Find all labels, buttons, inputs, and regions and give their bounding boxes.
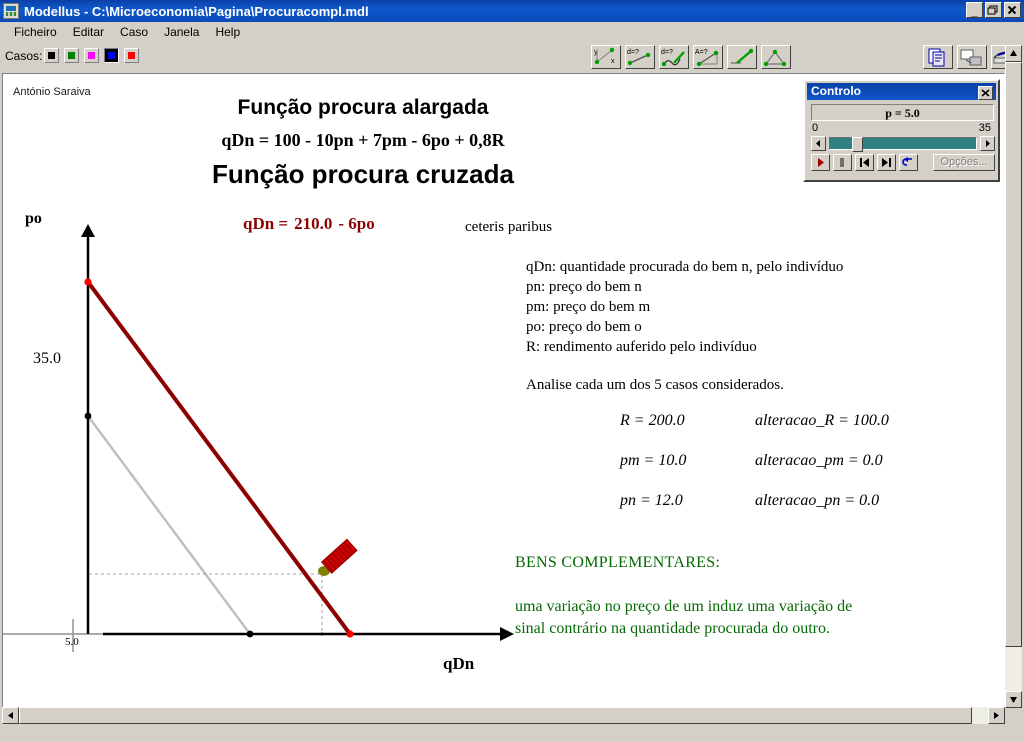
legend-line-qdn: qDn: quantidade procurada do bem n, pelo… <box>526 257 843 277</box>
caso-swatch-magenta <box>88 52 95 59</box>
y-tick-5: 5.0 <box>65 636 79 648</box>
scroll-left-button[interactable] <box>2 707 19 724</box>
tool-angle[interactable]: A=? <box>693 45 723 69</box>
status-bar <box>0 724 1024 742</box>
minimize-icon: _ <box>967 5 982 19</box>
casos-label: Casos: <box>5 49 42 63</box>
parameter-row-pm: pm = 10.0alteracao_pm = 0.0 <box>620 452 889 492</box>
play-button[interactable] <box>811 154 830 171</box>
param-r-delta[interactable]: alteracao_R = 100.0 <box>755 412 889 430</box>
svg-text:d=?: d=? <box>627 49 639 56</box>
play-icon <box>812 155 829 170</box>
triangle-down-icon <box>1006 692 1021 707</box>
chevron-right-icon <box>981 137 994 150</box>
horizontal-scroll-thumb[interactable] <box>19 707 972 724</box>
scroll-right-button[interactable] <box>988 707 1005 724</box>
horizontal-scrollbar[interactable] <box>2 707 1005 724</box>
svg-text:x: x <box>611 58 615 65</box>
tool-axes[interactable]: y x <box>591 45 621 69</box>
restore-button[interactable] <box>985 2 1002 18</box>
chart-area[interactable]: po qDn 35.0 5.0 180.0 210.0 <box>3 74 563 707</box>
chart-svg <box>3 74 563 707</box>
chevron-left-icon <box>812 137 825 150</box>
close-icon <box>1005 3 1020 17</box>
controlo-slider-track[interactable] <box>829 137 977 150</box>
triangle-up-icon <box>1006 46 1021 61</box>
bens-line-2: sinal contrário na quantidade procurada … <box>515 618 852 640</box>
controlo-readout: p = 5.0 <box>811 104 994 121</box>
window-controls: _ <box>966 2 1021 18</box>
reset-icon <box>900 155 917 170</box>
last-frame-icon <box>878 155 895 170</box>
vertical-scroll-thumb[interactable] <box>1005 62 1022 647</box>
caso-button-1[interactable] <box>44 48 59 63</box>
controlo-close-button[interactable] <box>978 86 993 100</box>
controlo-title-label: Controlo <box>811 84 861 98</box>
y-axis-label: po <box>25 210 42 228</box>
path-length-tool-icon: d=? <box>660 46 688 68</box>
x-axis-label: qDn <box>443 654 474 674</box>
caso-swatch-blue <box>108 52 115 59</box>
caso-swatch-green <box>68 52 75 59</box>
y-tick-35: 35.0 <box>33 350 61 368</box>
param-pn-delta[interactable]: alteracao_pn = 0.0 <box>755 492 879 510</box>
reset-button[interactable] <box>899 154 918 171</box>
pencil-cursor[interactable] <box>318 539 357 576</box>
menu-bar: Ficheiro Editar Caso Janela Help <box>0 22 1024 41</box>
slider-step-right-button[interactable] <box>980 136 995 151</box>
caso-button-5[interactable] <box>124 48 139 63</box>
triangle-tool-icon <box>762 46 790 68</box>
controlo-range-min: 0 <box>812 122 818 134</box>
caso-swatch-black <box>48 52 55 59</box>
title-bar: Modellus - C:\Microeconomia\Pagina\Procu… <box>0 0 1024 22</box>
tool-export[interactable] <box>957 45 987 69</box>
legend-line-r: R: rendimento auferido pelo indivíduo <box>526 337 843 357</box>
tool-path-length[interactable]: d=? <box>659 45 689 69</box>
analise-note: Analise cada um dos 5 casos considerados… <box>526 377 784 394</box>
caso-button-4[interactable] <box>104 48 119 63</box>
controlo-range-max: 35 <box>979 122 991 134</box>
copy-icon <box>924 46 952 68</box>
slider-step-left-button[interactable] <box>811 136 826 151</box>
legend-line-pm: pm: preço do bem m <box>526 297 843 317</box>
menu-janela[interactable]: Janela <box>156 24 207 40</box>
menu-caso[interactable]: Caso <box>112 24 156 40</box>
series-procura-anterior <box>88 416 250 634</box>
axes-tool-icon: y x <box>592 46 620 68</box>
param-pm-delta[interactable]: alteracao_pm = 0.0 <box>755 452 883 470</box>
controlo-slider-thumb[interactable] <box>852 137 863 152</box>
pause-icon <box>834 155 851 170</box>
parameter-table: R = 200.0alteracao_R = 100.0 pm = 10.0al… <box>620 412 889 532</box>
legend-line-po: po: preço do bem o <box>526 317 843 337</box>
window-title: Modellus - C:\Microeconomia\Pagina\Procu… <box>24 4 369 19</box>
tool-copy[interactable] <box>923 45 953 69</box>
triangle-right-icon <box>989 708 1004 723</box>
angle-tool-icon: A=? <box>694 46 722 68</box>
scroll-down-button[interactable] <box>1005 691 1022 708</box>
tool-triangle[interactable] <box>761 45 791 69</box>
minimize-button[interactable]: _ <box>966 2 983 18</box>
first-frame-button[interactable] <box>855 154 874 171</box>
tool-vector[interactable] <box>727 45 757 69</box>
app-icon <box>3 3 19 19</box>
export-icon <box>958 46 986 68</box>
close-icon <box>979 87 992 99</box>
controlo-slider-row <box>811 136 995 151</box>
bens-line-1: uma variação no preço de um induz uma va… <box>515 596 852 618</box>
variable-legend: qDn: quantidade procurada do bem n, pelo… <box>526 257 843 357</box>
controlo-opcoes-button[interactable]: Opções... <box>933 154 995 171</box>
param-pn-value[interactable]: pn = 12.0 <box>620 492 755 510</box>
controlo-title-bar: Controlo <box>807 83 996 100</box>
vertical-scrollbar[interactable] <box>1005 45 1022 708</box>
series-procura-actual <box>88 282 350 634</box>
distance-tool-icon: d=? <box>626 46 654 68</box>
parameter-row-r: R = 200.0alteracao_R = 100.0 <box>620 412 889 452</box>
legend-line-pn: pn: preço do bem n <box>526 277 843 297</box>
caso-swatch-red <box>128 52 135 59</box>
modellus-window: Modellus - C:\Microeconomia\Pagina\Procu… <box>0 0 1024 742</box>
param-r-value[interactable]: R = 200.0 <box>620 412 755 430</box>
tool-distance[interactable]: d=? <box>625 45 655 69</box>
restore-icon <box>986 3 1001 17</box>
menu-editar[interactable]: Editar <box>65 24 112 40</box>
controlo-window[interactable]: Controlo p = 5.0 0 35 <box>803 79 1000 182</box>
scroll-up-button[interactable] <box>1005 45 1022 62</box>
first-frame-icon <box>856 155 873 170</box>
svg-text:d=?: d=? <box>661 49 673 56</box>
bens-complementares-body: uma variação no preço de um induz uma va… <box>515 596 852 640</box>
parameter-row-pn: pn = 12.0alteracao_pn = 0.0 <box>620 492 889 532</box>
vector-tool-icon <box>728 46 756 68</box>
menu-help[interactable]: Help <box>207 24 248 40</box>
caso-button-3[interactable] <box>84 48 99 63</box>
caso-button-2[interactable] <box>64 48 79 63</box>
menu-ficheiro[interactable]: Ficheiro <box>6 24 65 40</box>
param-pm-value[interactable]: pm = 10.0 <box>620 452 755 470</box>
toolbar: Casos: y x d=? <box>0 41 1024 73</box>
last-frame-button[interactable] <box>877 154 896 171</box>
triangle-left-icon <box>3 708 18 723</box>
close-button[interactable] <box>1004 2 1021 18</box>
svg-text:A=?: A=? <box>695 49 708 56</box>
pause-button[interactable] <box>833 154 852 171</box>
